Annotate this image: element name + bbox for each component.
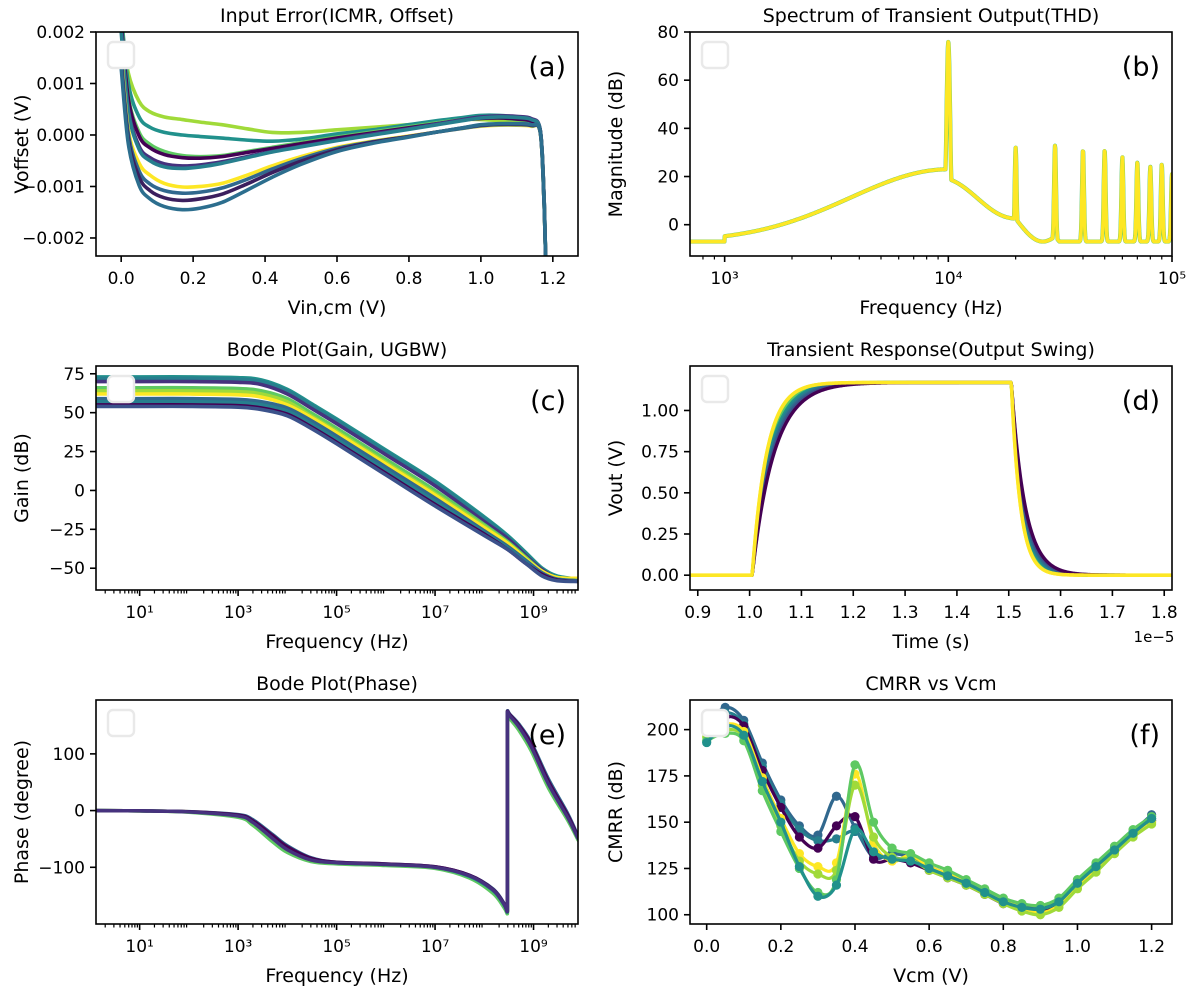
y-axis: 806040200 (657, 23, 690, 236)
series-corner-2-seg0 (96, 811, 507, 913)
y-tick-label: 40 (657, 119, 679, 139)
x-tick-label: 1.2 (1138, 937, 1165, 957)
y-axis: 1.000.750.500.250.00 (641, 401, 690, 586)
figure-root: Input Error(ICMR, Offset)0.00.20.40.60.8… (0, 0, 1188, 1002)
x-tick-label: 0.6 (916, 937, 943, 957)
data-point (887, 844, 896, 853)
x-tick-label: 1.0 (736, 603, 763, 623)
x-tick-label: 0.6 (323, 269, 350, 289)
y-tick-label: 100 (53, 745, 85, 765)
y-tick-label: 150 (647, 813, 679, 833)
y-tick-label: −100 (38, 858, 85, 878)
x-tick-label: 0.4 (252, 269, 279, 289)
chart-panel-c: Bode Plot(Gain, UGBW)10¹10³10⁵10⁷10⁹Freq… (0, 334, 594, 668)
panel-label-a: (a) (528, 52, 566, 83)
y-axis-label: Magnitude (dB) (605, 71, 627, 218)
chart-panel-d: Transient Response(Output Swing)0.91.01.… (594, 334, 1188, 668)
x-tick-label: 1.2 (840, 603, 867, 623)
y-tick-label: 60 (657, 71, 679, 91)
data-point (999, 897, 1008, 906)
series-spectrum (690, 42, 1172, 242)
y-tick-label: 0.001 (36, 74, 85, 94)
data-point (1110, 845, 1119, 854)
data-point (758, 777, 767, 786)
x-tick-label: 1.7 (1099, 603, 1126, 623)
y-tick-label: 0 (668, 216, 679, 236)
x-tick-label: 0.8 (990, 937, 1017, 957)
x-tick-label: 10³ (710, 269, 738, 289)
y-tick-label: 80 (657, 23, 679, 43)
chart-title: Input Error(ICMR, Offset) (220, 5, 454, 27)
y-tick-label: 0.75 (641, 443, 679, 463)
plot-area-a (121, 11, 545, 258)
y-tick-label: 100 (647, 906, 679, 926)
x-tick-label: 1.2 (539, 269, 566, 289)
data-point (776, 818, 785, 827)
data-point (943, 871, 952, 880)
data-point (702, 738, 711, 747)
data-point (739, 731, 748, 740)
x-axis: 10¹10³10⁵10⁷10⁹ (105, 924, 575, 957)
x-tick-label: 1.5 (995, 603, 1022, 623)
axes-frame (96, 32, 578, 256)
series-spectrum-under (690, 42, 1172, 242)
y-tick-label: −50 (49, 559, 85, 579)
data-point (813, 844, 822, 853)
y-tick-label: 0.002 (36, 23, 85, 43)
panel-label-b: (b) (1122, 52, 1160, 83)
y-tick-label: 25 (63, 443, 85, 463)
panel-label-d: (d) (1122, 386, 1160, 417)
chart-title: CMRR vs Vcm (865, 673, 996, 695)
x-tick-label: 1.3 (892, 603, 919, 623)
x-tick-label: 0.8 (395, 269, 422, 289)
x-tick-label: 1.0 (1064, 937, 1091, 957)
y-tick-label: 1.00 (641, 401, 679, 421)
legend-placeholder[interactable] (702, 376, 728, 402)
x-axis: 0.00.20.40.60.81.01.2 (693, 924, 1165, 957)
y-axis-label: CMRR (dB) (605, 761, 627, 863)
x-tick-label: 10⁷ (421, 603, 450, 623)
x-tick-label: 1.1 (788, 603, 815, 623)
y-tick-label: −25 (49, 520, 85, 540)
chart-panel-a: Input Error(ICMR, Offset)0.00.20.40.60.8… (0, 0, 594, 334)
y-tick-label: −0.002 (22, 229, 85, 249)
series-corner-2 (121, 11, 545, 258)
x-tick-label: 10⁹ (519, 937, 548, 957)
y-axis-label: Vout (V) (605, 440, 627, 517)
x-axis: 0.91.01.11.21.31.41.51.61.71.8 (684, 590, 1177, 623)
series-corner-1-seg0 (96, 811, 507, 912)
data-point (832, 792, 841, 801)
data-point (1128, 829, 1137, 838)
plot-area-d (690, 382, 1172, 575)
legend-placeholder[interactable] (108, 376, 134, 402)
series-corner-3-seg0 (96, 811, 507, 914)
series-corner-10 (121, 68, 545, 259)
y-tick-label: 50 (63, 404, 85, 424)
data-point (850, 812, 859, 821)
y-axis-label: Gain (dB) (11, 433, 33, 523)
series-corner-5-seg0 (96, 811, 507, 911)
y-tick-label: 0.50 (641, 484, 679, 504)
x-axis-label: Frequency (Hz) (265, 631, 408, 653)
data-point (869, 832, 878, 841)
x-axis-label: Frequency (Hz) (859, 297, 1002, 319)
data-point (925, 864, 934, 873)
x-tick-label: 1.4 (943, 603, 970, 623)
legend-placeholder[interactable] (108, 42, 134, 68)
y-axis: 200175150125100 (647, 721, 690, 926)
panel-label-f: (f) (1129, 720, 1160, 751)
data-point (1017, 903, 1026, 912)
panel-label-c: (c) (530, 386, 566, 417)
x-axis: 10³10⁴10⁵ (703, 256, 1186, 289)
series-corner-5 (707, 729, 1152, 914)
data-point (869, 847, 878, 856)
x-axis: 0.00.20.40.60.81.01.2 (108, 256, 567, 289)
y-axis: 1000−100 (38, 745, 96, 878)
legend-placeholder[interactable] (108, 710, 134, 736)
legend-placeholder[interactable] (702, 710, 728, 736)
series-corner-6-seg0 (96, 811, 507, 912)
series-corner-4-seg0 (96, 811, 507, 913)
plot-area-f (702, 703, 1156, 920)
x-axis-label: Time (s) (891, 631, 969, 653)
chart-title: Spectrum of Transient Output(THD) (763, 5, 1100, 27)
axes-frame (690, 32, 1172, 256)
y-tick-label: 175 (647, 767, 679, 787)
data-point (962, 879, 971, 888)
x-tick-label: 10³ (224, 603, 252, 623)
data-point (832, 881, 841, 890)
x-axis-exponent: 1e−5 (1134, 628, 1175, 646)
chart-title: Bode Plot(Gain, UGBW) (227, 339, 448, 361)
y-tick-label: 125 (647, 859, 679, 879)
x-tick-label: 1.8 (1151, 603, 1178, 623)
y-tick-label: 0.00 (641, 566, 679, 586)
x-tick-label: 0.2 (767, 937, 794, 957)
data-point (869, 818, 878, 827)
x-tick-label: 10⁹ (519, 603, 548, 623)
series-corner-6 (121, 32, 545, 259)
plot-area-c (96, 377, 578, 582)
y-axis: 0.0020.0010.000−0.001−0.002 (22, 23, 96, 249)
chart-title: Transient Response(Output Swing) (766, 339, 1095, 361)
x-axis-label: Frequency (Hz) (265, 965, 408, 987)
y-tick-label: 0.000 (36, 126, 85, 146)
legend-placeholder[interactable] (702, 42, 728, 68)
y-tick-label: 0 (74, 802, 85, 822)
x-tick-label: 10⁵ (322, 603, 350, 623)
y-axis-label: Voffset (V) (11, 94, 33, 193)
data-point (1073, 879, 1082, 888)
y-axis: 7550250−25−50 (49, 365, 96, 579)
data-point (1147, 814, 1156, 823)
data-point (906, 856, 915, 865)
y-tick-label: 200 (647, 721, 679, 741)
chart-title: Bode Plot(Phase) (256, 673, 418, 695)
series-corner-4 (96, 388, 578, 579)
data-point (887, 855, 896, 864)
data-point (980, 888, 989, 897)
y-tick-label: 0.25 (641, 525, 679, 545)
chart-panel-b: Spectrum of Transient Output(THD)10³10⁴1… (594, 0, 1188, 334)
x-axis-label: Vcm (V) (893, 965, 969, 987)
data-point (832, 821, 841, 830)
x-tick-label: 0.4 (841, 937, 868, 957)
x-tick-label: 0.9 (684, 603, 711, 623)
x-tick-label: 1.0 (467, 269, 494, 289)
data-point (850, 760, 859, 769)
data-point (1036, 905, 1045, 914)
y-axis-label: Phase (degree) (11, 740, 33, 884)
plot-area-e (96, 711, 578, 914)
y-tick-label: 0 (74, 481, 85, 501)
panel-label-e: (e) (528, 720, 566, 751)
data-point (813, 869, 822, 878)
series-top (690, 382, 1172, 575)
x-tick-label: 10¹ (125, 603, 153, 623)
plot-area-b (690, 42, 1172, 242)
y-tick-label: 75 (63, 365, 85, 385)
series-corner-9 (121, 63, 545, 259)
x-tick-label: 10⁵ (1158, 269, 1186, 289)
series-corner-7-seg0 (96, 811, 507, 912)
data-point (1091, 862, 1100, 871)
x-tick-label: 10⁷ (421, 937, 450, 957)
x-tick-label: 10³ (224, 937, 252, 957)
x-tick-label: 0.0 (693, 937, 720, 957)
y-tick-label: 20 (657, 168, 679, 188)
x-tick-label: 0.0 (108, 269, 135, 289)
data-point (813, 892, 822, 901)
data-point (850, 825, 859, 834)
data-point (1054, 897, 1063, 906)
data-point (795, 862, 804, 871)
chart-panel-e: Bode Plot(Phase)10¹10³10⁵10⁷10⁹Frequency… (0, 668, 594, 1002)
x-tick-label: 10⁴ (934, 269, 963, 289)
data-point (795, 832, 804, 841)
x-tick-label: 0.2 (180, 269, 207, 289)
x-tick-label: 1.6 (1047, 603, 1074, 623)
x-tick-label: 10¹ (125, 937, 153, 957)
x-axis-label: Vin,cm (V) (288, 297, 387, 319)
x-tick-label: 10⁵ (322, 937, 350, 957)
axes-frame (690, 700, 1172, 924)
x-axis: 10¹10³10⁵10⁷10⁹ (105, 590, 575, 623)
chart-panel-f: CMRR vs Vcm0.00.20.40.60.81.01.2Vcm (V)2… (594, 668, 1188, 1002)
